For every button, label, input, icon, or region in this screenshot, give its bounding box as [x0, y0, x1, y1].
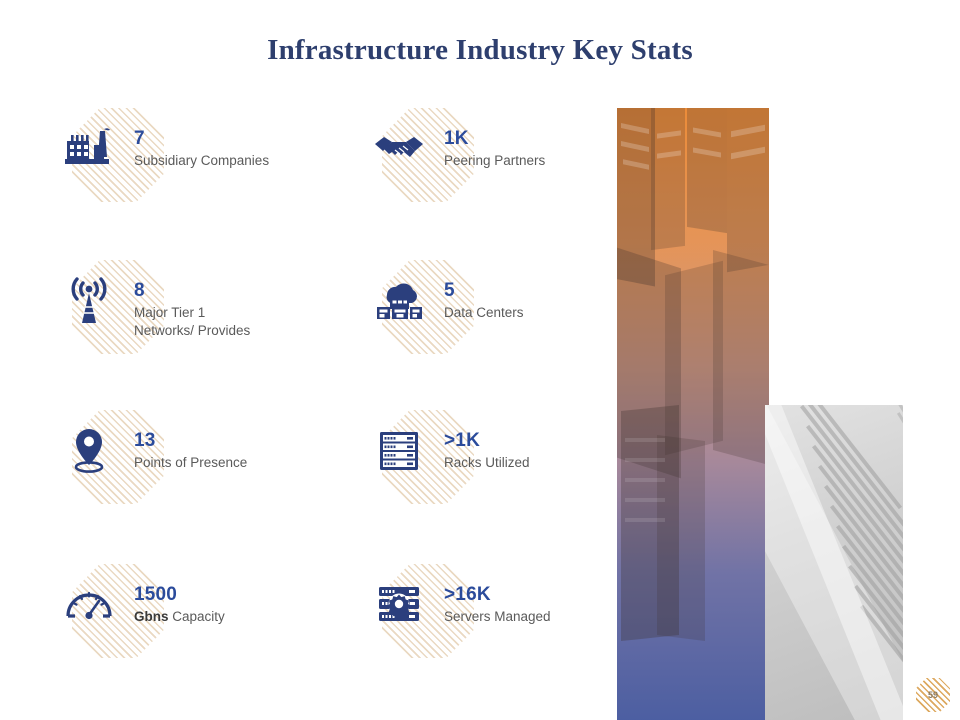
stat-text: 5 Data Centers [444, 280, 624, 322]
stat-card-gbns-capacity[interactable]: 1500 Gbns Capacity [30, 564, 300, 674]
page-title: Infrastructure Industry Key Stats [0, 34, 960, 67]
stat-label-line1: Servers Managed [444, 609, 551, 624]
stat-label-line1: Points of Presence [134, 455, 247, 470]
stat-number: 1K [444, 128, 624, 149]
stat-card-subsidiary-companies[interactable]: 7 Subsidiary Companies [30, 108, 300, 218]
slide-number: 59 [916, 678, 950, 712]
stat-card-servers-managed[interactable]: >16K Servers Managed [340, 564, 610, 674]
stat-card-points-of-presence[interactable]: 13 Points of Presence [30, 410, 300, 520]
antenna-tower-icon [60, 274, 118, 328]
stat-number: 13 [134, 430, 314, 451]
stat-label-line1: Subsidiary Companies [134, 153, 269, 168]
stat-text: 7 Subsidiary Companies [134, 128, 314, 170]
handshake-icon [370, 122, 428, 176]
server-gear-icon [370, 578, 428, 632]
stat-number: >1K [444, 430, 624, 451]
stat-number: >16K [444, 584, 624, 605]
stat-label: Servers Managed [444, 608, 624, 626]
image-skyscrapers-orange-blue [617, 108, 769, 720]
image-building-facade-grayscale [765, 405, 903, 720]
factory-icon [60, 122, 118, 176]
stat-label: Points of Presence [134, 454, 314, 472]
stat-label-line1: Capacity [169, 609, 225, 624]
slide-number-badge: 59 [916, 678, 950, 712]
stat-label: Racks Utilized [444, 454, 624, 472]
stat-text: 1K Peering Partners [444, 128, 624, 170]
cloud-datacenter-icon [370, 274, 428, 328]
stats-grid: 7 Subsidiary Companies 1K Peerin [30, 108, 600, 668]
stat-label-line1: Racks Utilized [444, 455, 530, 470]
stat-label-line1: Data Centers [444, 305, 524, 320]
stat-text: 1500 Gbns Capacity [134, 584, 314, 626]
stat-number: 5 [444, 280, 624, 301]
stat-card-peering-partners[interactable]: 1K Peering Partners [340, 108, 610, 218]
stat-number: 7 [134, 128, 314, 149]
stat-label-line1: Peering Partners [444, 153, 545, 168]
stat-label-line2: Networks/ Provides [134, 323, 250, 338]
slide-root: Infrastructure Industry Key Stats [0, 0, 960, 720]
server-rack-icon [370, 424, 428, 478]
speedometer-icon [60, 578, 118, 632]
stat-text: 13 Points of Presence [134, 430, 314, 472]
stat-text: >16K Servers Managed [444, 584, 624, 626]
stat-label: Subsidiary Companies [134, 152, 314, 170]
stat-label-unit: Gbns [134, 609, 169, 624]
stat-label: Gbns Capacity [134, 608, 314, 626]
stat-label: Peering Partners [444, 152, 624, 170]
map-pin-icon [60, 424, 118, 478]
stat-card-racks-utilized[interactable]: >1K Racks Utilized [340, 410, 610, 520]
stat-number: 1500 [134, 584, 314, 605]
stat-number: 8 [134, 280, 314, 301]
stat-label-line1: Major Tier 1 [134, 305, 205, 320]
stat-label: Data Centers [444, 304, 624, 322]
stat-text: 8 Major Tier 1 Networks/ Provides [134, 280, 314, 339]
stat-text: >1K Racks Utilized [444, 430, 624, 472]
stat-label: Major Tier 1 Networks/ Provides [134, 304, 314, 339]
stat-card-major-tier-1-networks[interactable]: 8 Major Tier 1 Networks/ Provides [30, 260, 300, 370]
stat-card-data-centers[interactable]: 5 Data Centers [340, 260, 610, 370]
